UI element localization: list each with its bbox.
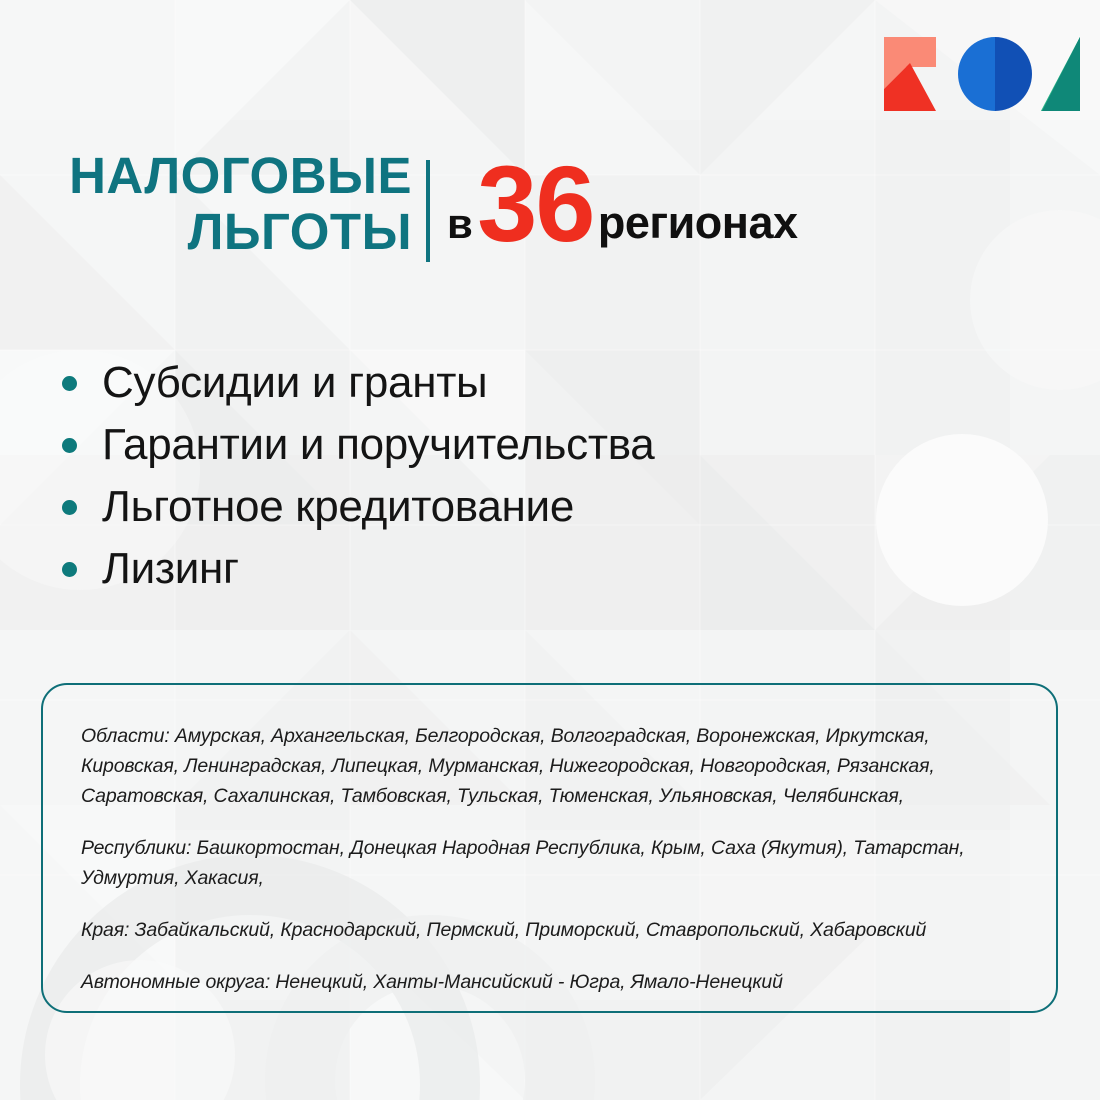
bullet-dot-icon <box>62 438 77 453</box>
list-item: Субсидии и гранты <box>62 352 654 414</box>
headline-preposition: в <box>447 200 473 248</box>
headline-divider <box>426 160 430 262</box>
infographic-poster: НАЛОГОВЫЕ ЛЬГОТЫ в 36 регионах Субсидии … <box>0 0 1100 1100</box>
list-item-label: Лизинг <box>102 544 239 594</box>
logo-k-shape <box>884 37 936 111</box>
regions-paragraph-kraya: Края: Забайкальский, Краснодарский, Перм… <box>81 915 1011 945</box>
headline: НАЛОГОВЫЕ ЛЬГОТЫ в 36 регионах <box>0 148 1100 278</box>
list-item: Льготное кредитование <box>62 476 654 538</box>
headline-subtitle: в 36 регионах <box>447 150 798 258</box>
bullet-dot-icon <box>62 562 77 577</box>
list-item-label: Гарантии и поручительства <box>102 420 654 470</box>
logo-o-shape <box>958 37 1032 111</box>
list-item: Гарантии и поручительства <box>62 414 654 476</box>
list-item: Лизинг <box>62 538 654 600</box>
bullet-dot-icon <box>62 500 77 515</box>
bullet-dot-icon <box>62 376 77 391</box>
headline-word: регионах <box>598 197 798 249</box>
regions-box: Области: Амурская, Архангельская, Белгор… <box>41 683 1058 1013</box>
regions-paragraph-respubliki: Республики: Башкортостан, Донецкая Народ… <box>81 833 1011 893</box>
benefits-list: Субсидии и гранты Гарантии и поручительс… <box>62 352 654 600</box>
headline-number: 36 <box>477 150 593 258</box>
headline-line1: НАЛОГОВЫЕ <box>0 148 412 204</box>
headline-line2: ЛЬГОТЫ <box>0 204 412 260</box>
list-item-label: Субсидии и гранты <box>102 358 487 408</box>
regions-box-content: Области: Амурская, Архангельская, Белгор… <box>81 721 1011 997</box>
koa-logo <box>884 37 1080 111</box>
logo-a-shape <box>1041 37 1080 111</box>
headline-title: НАЛОГОВЫЕ ЛЬГОТЫ <box>0 148 412 260</box>
regions-paragraph-okruga: Автономные округа: Ненецкий, Ханты-Манси… <box>81 967 1011 997</box>
regions-paragraph-oblasti: Области: Амурская, Архангельская, Белгор… <box>81 721 1011 811</box>
list-item-label: Льготное кредитование <box>102 482 574 532</box>
